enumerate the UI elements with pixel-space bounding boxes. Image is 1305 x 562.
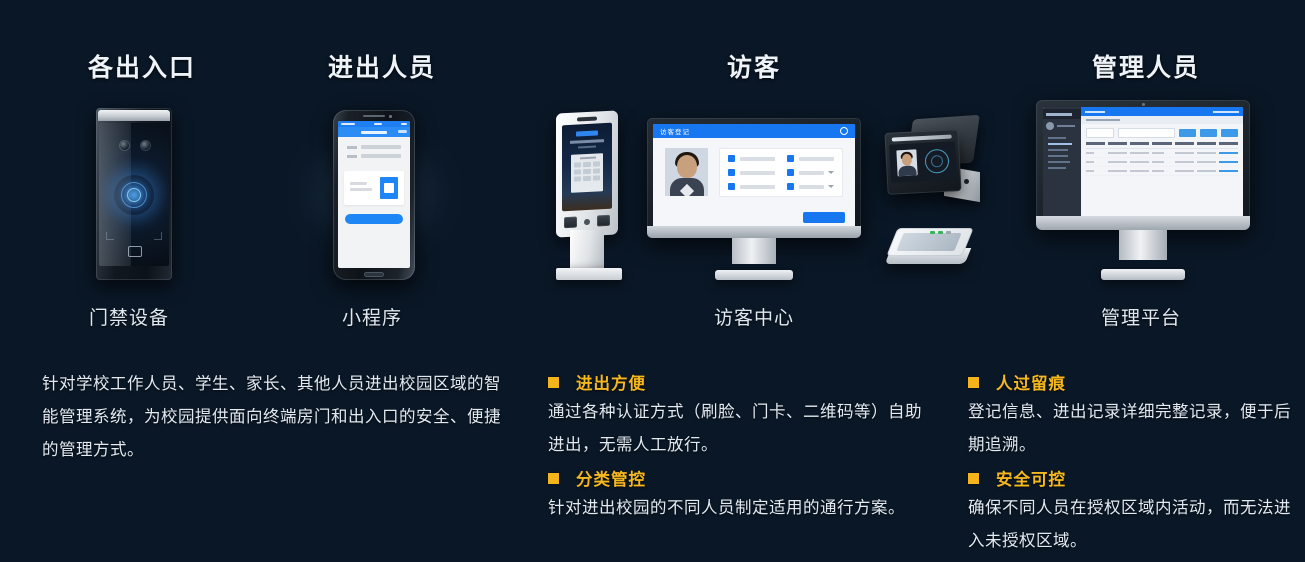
kiosk-logo (576, 130, 598, 136)
platform-topbar (1081, 107, 1243, 116)
reset-button[interactable] (1200, 129, 1217, 137)
qr-card-text (350, 182, 374, 194)
qr-scanner-icon (597, 215, 610, 227)
kiosk-head (556, 110, 618, 237)
square-bullet-icon (548, 473, 559, 484)
square-bullet-icon (968, 377, 979, 388)
form-field-row[interactable] (347, 154, 401, 158)
poster-stage: 各出入口 进出人员 访客 管理人员 (0, 0, 1305, 550)
scan-corner-icon (154, 232, 162, 240)
phone-form (338, 137, 410, 167)
platform-logo (1043, 109, 1081, 119)
platform-toolbar (1081, 124, 1243, 142)
chevron-down-icon[interactable] (828, 171, 834, 174)
feature-title: 进出方便 (576, 370, 646, 394)
unit-icon (728, 183, 735, 190)
search-button[interactable] (1179, 129, 1196, 137)
miniprogram-navbar (338, 127, 410, 137)
square-bullet-icon (968, 473, 979, 484)
device-management-monitor (1036, 100, 1250, 280)
caption-visitor-center: 访客中心 (714, 303, 794, 330)
platform-sidebar (1043, 107, 1081, 221)
table-row[interactable] (1086, 167, 1238, 176)
column-title-admin: 管理人员 (1092, 48, 1200, 84)
avatar-torso (898, 165, 916, 176)
feature-title: 人过留痕 (996, 370, 1066, 394)
feature-list-visitor: 进出方便 通过各种认证方式（刷脸、门卡、二维码等）自助进出，无需人工放行。 分类… (548, 370, 924, 529)
avatar (1046, 122, 1054, 130)
id-scanner-icon (564, 217, 577, 229)
avatar-head (902, 154, 913, 167)
monitor-chin (647, 226, 861, 238)
kiosk-base (556, 268, 622, 280)
device-smartphone (333, 110, 415, 280)
column-title-personnel: 进出人员 (328, 48, 436, 84)
platform-menu[interactable] (1043, 137, 1081, 169)
user-icon (728, 155, 735, 162)
column-title-entrances: 各出入口 (88, 48, 196, 84)
gear-icon[interactable] (840, 127, 848, 135)
caption-miniprogram: 小程序 (342, 303, 402, 330)
camera-lens-icon (141, 141, 150, 150)
terminal-screen (99, 123, 169, 266)
field-visitee[interactable] (787, 169, 834, 176)
management-platform-screen (1043, 107, 1243, 221)
webcam-icon (1142, 103, 1145, 106)
visitee-icon (787, 169, 794, 176)
feature-body: 确保不同人员在授权区域内活动，而无法进入未授权区域。 (968, 492, 1298, 558)
form-field-row[interactable] (347, 145, 401, 149)
visitor-form-body (653, 138, 855, 207)
kiosk-camera-icon (577, 116, 597, 121)
device-access-terminal (96, 108, 172, 280)
scan-corner-icon (106, 232, 114, 240)
status-led-icon (946, 231, 951, 234)
phone-submit-button[interactable] (345, 214, 403, 224)
status-led-icon (938, 231, 943, 234)
caption-management-platform: 管理平台 (1101, 303, 1181, 330)
feature-title: 安全可控 (996, 466, 1066, 490)
visitor-field-grid (719, 148, 843, 197)
visitor-app-title: 访客登记 (660, 126, 690, 136)
indicator-light-icon (584, 219, 590, 225)
visitor-photo (665, 148, 708, 196)
phone-icon (728, 169, 735, 176)
monitor-foot (715, 270, 793, 280)
camera-lens-icon (120, 141, 129, 150)
earpiece-icon (363, 115, 385, 117)
home-button-icon (128, 246, 142, 257)
field-unit[interactable] (728, 183, 775, 190)
platform-monitor-neck (1119, 230, 1167, 260)
field-id-card[interactable] (787, 155, 834, 162)
field-name[interactable] (728, 155, 775, 162)
feature-heading: 进出方便 (548, 370, 924, 394)
column-title-visitor: 访客 (727, 48, 781, 84)
square-bullet-icon (548, 377, 559, 388)
feature-body: 通过各种认证方式（刷脸、门卡、二维码等）自助进出，无需人工放行。 (548, 396, 924, 462)
platform-monitor-bezel (1036, 100, 1250, 228)
feature-body: 针对进出校园的不同人员制定适用的通行方案。 (548, 492, 924, 525)
filter-select[interactable] (1086, 128, 1114, 138)
platform-monitor-chin (1036, 216, 1250, 230)
qr-code-icon (380, 177, 398, 199)
device-card-reader (886, 228, 974, 276)
kiosk-keypad-grid[interactable] (574, 161, 600, 181)
more-menu-icon[interactable] (398, 130, 407, 133)
feature-body: 登记信息、进出记录详细完整记录，便于后期追溯。 (968, 396, 1298, 462)
kiosk-title-line (570, 139, 604, 144)
card-reader-pad (896, 233, 961, 251)
platform-data-table (1081, 142, 1243, 213)
search-input[interactable] (1118, 128, 1175, 138)
visitor-app-titlebar: 访客登记 (653, 124, 855, 138)
table-row[interactable] (1086, 149, 1238, 158)
front-camera-icon (389, 115, 392, 118)
device-self-service-kiosk (550, 112, 628, 280)
face-terminal-main-unit (884, 129, 961, 195)
ir-light-bar-icon (892, 134, 952, 141)
description-paragraph: 针对学校工作人员、学生、家长、其他人员进出校园区域的智能管理系统，为校园提供面向… (42, 368, 504, 467)
monitor-bezel: 访客登记 (647, 118, 861, 238)
feature-heading: 人过留痕 (968, 370, 1298, 394)
platform-monitor-foot (1101, 269, 1185, 280)
face-scan-ring-icon (114, 175, 154, 215)
power-port-icon (964, 179, 969, 184)
device-visitor-monitor: 访客登记 (647, 118, 861, 280)
kiosk-subtitle-line (578, 146, 596, 149)
feature-list-admin: 人过留痕 登记信息、进出记录详细完整记录，便于后期追溯。 安全可控 确保不同人员… (968, 370, 1298, 562)
qr-code-card[interactable] (344, 171, 404, 205)
visitor-registration-screen: 访客登记 (653, 124, 855, 232)
field-phone[interactable] (728, 169, 775, 176)
sidebar-item-active[interactable] (1048, 143, 1072, 145)
reason-icon (787, 183, 794, 190)
kiosk-column (570, 230, 604, 270)
platform-main (1081, 107, 1243, 221)
face-scan-ring-icon (924, 149, 949, 174)
kiosk-screen (562, 123, 612, 212)
export-button[interactable] (1221, 129, 1238, 137)
avatar-head (677, 155, 697, 178)
platform-user-card[interactable] (1043, 119, 1081, 133)
feature-title: 分类管控 (576, 466, 646, 490)
field-reason[interactable] (787, 183, 834, 190)
visitor-submit-button[interactable] (803, 212, 845, 223)
phone-body (333, 110, 415, 280)
breadcrumb (1081, 116, 1243, 124)
feature-heading: 分类管控 (548, 466, 924, 490)
status-led-icon (930, 231, 935, 234)
phone-home-button[interactable] (364, 272, 384, 277)
phone-screen (338, 121, 410, 268)
monitor-neck (732, 238, 776, 264)
caption-access-device: 门禁设备 (89, 303, 169, 330)
table-row[interactable] (1086, 158, 1238, 167)
chevron-down-icon[interactable] (828, 185, 834, 188)
kiosk-keypad-panel[interactable] (571, 153, 603, 193)
feature-heading: 安全可控 (968, 466, 1298, 490)
face-preview-avatar (896, 149, 917, 176)
id-card-icon (787, 155, 794, 162)
kiosk-scanner-modules (564, 215, 610, 228)
device-face-terminal (886, 117, 980, 217)
terminal-top-strip (98, 110, 170, 121)
terminal-body (96, 108, 172, 280)
face-terminal-screen (889, 141, 957, 182)
